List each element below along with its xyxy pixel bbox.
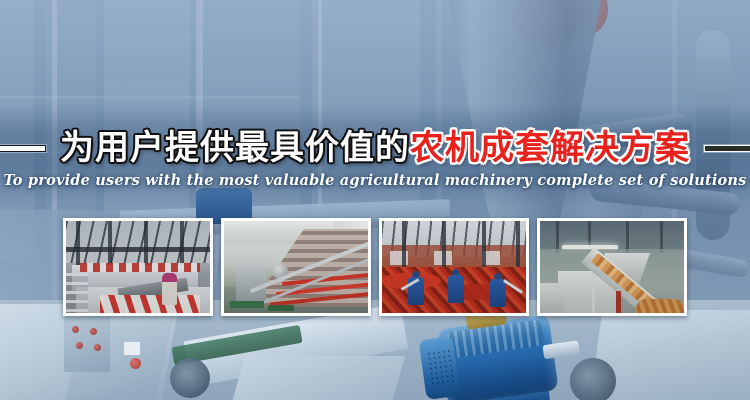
machine-screws [72,326,106,352]
machine-label-plate [124,342,140,355]
thumbnail-3[interactable] [379,218,529,316]
machine-slab [231,356,405,400]
dash-ornament-right [704,145,750,152]
thumbnail-4[interactable] [537,218,687,316]
headline-red-text: 农机成套解决方案 [410,128,690,168]
machine-pulley-large [570,358,616,400]
motor-vent-grille [426,348,455,387]
headline-text: 为用户提供最具价值的农机成套解决方案 [60,131,690,165]
thumbnail-2[interactable] [221,218,371,316]
thumbnail-1[interactable] [63,218,213,316]
red-button-icon [130,358,141,369]
thumbnail-2-image [224,221,368,313]
promotional-banner: 为用户提供最具价值的农机成套解决方案 To provide users with… [0,0,750,400]
headline: 为用户提供最具价值的农机成套解决方案 [0,124,750,172]
subtitle-text: To provide users with the most valuable … [0,172,750,189]
thumbnail-3-image [382,221,526,313]
dash-ornament-left [0,145,46,152]
thumbnail-strip [63,218,687,316]
headline-white-text: 为用户提供最具价值的 [60,128,410,168]
thumbnail-4-image [540,221,684,313]
thumbnail-1-image [66,221,210,313]
machine-pulley [170,358,210,398]
